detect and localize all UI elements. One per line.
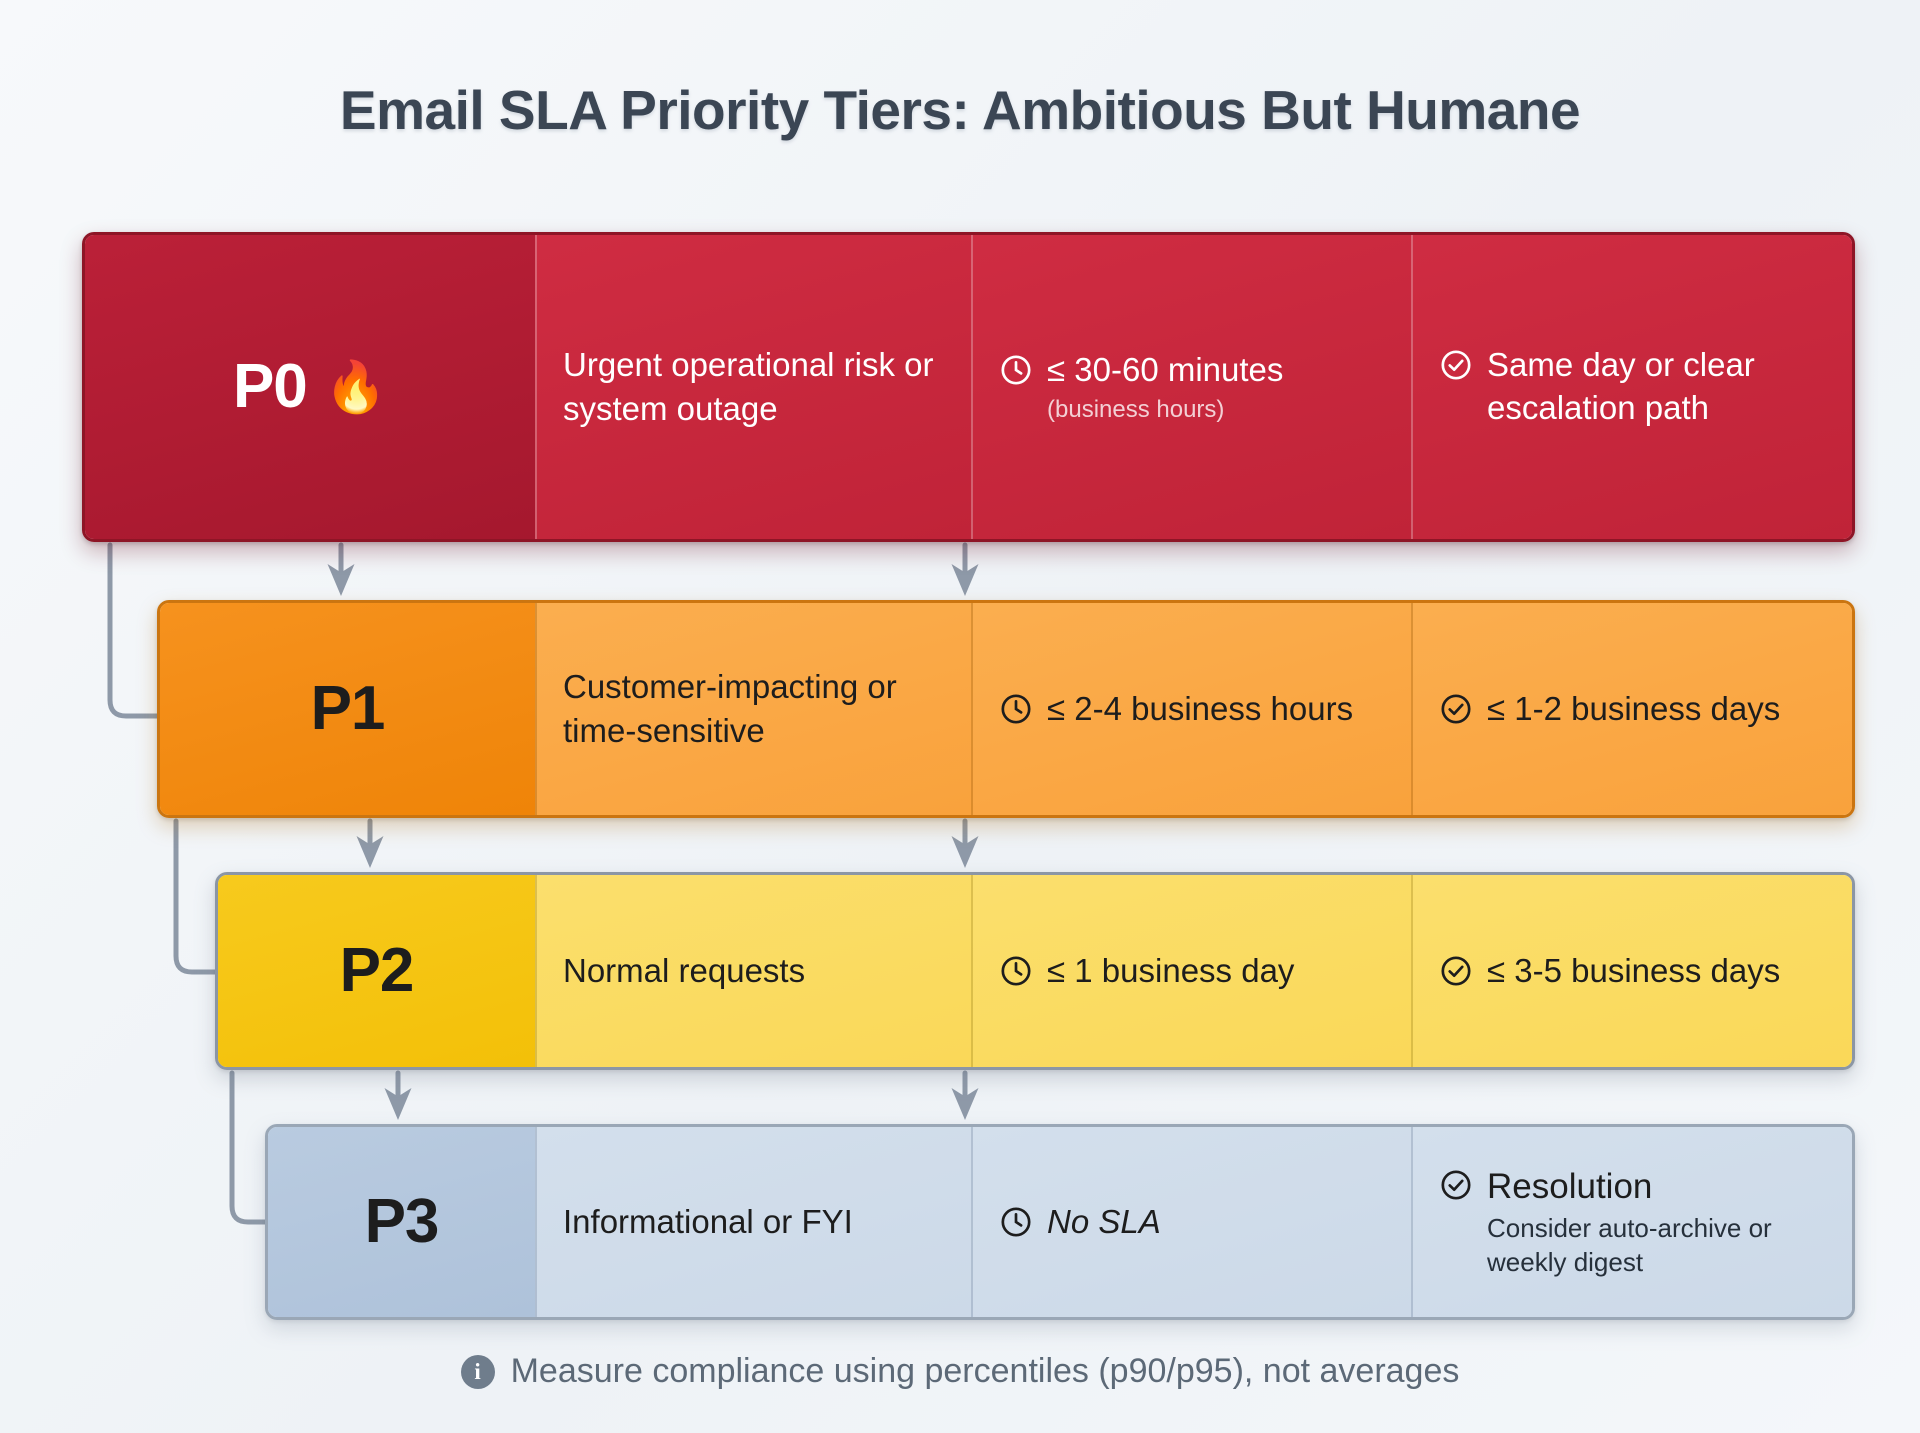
tier-row-p0[interactable]: P0 🔥 Urgent operational risk or system o…: [82, 232, 1855, 542]
check-circle-icon: [1439, 1168, 1473, 1207]
info-icon: i: [461, 1355, 495, 1389]
elbow-p0-p1: [110, 545, 157, 716]
tier-row-p2[interactable]: P2 Normal requests ≤ 1 business day: [215, 872, 1855, 1070]
tier-badge-label: P1: [311, 678, 385, 740]
response-main: ≤ 2-4 business hours: [1047, 688, 1353, 731]
response-metric-body: ≤ 2-4 business hours: [1047, 688, 1353, 731]
footer-note: i Measure compliance using percentiles (…: [0, 1352, 1920, 1391]
elbow-p2-p3: [232, 1073, 265, 1222]
tier-description-cell-p0: Urgent operational risk or system outage: [535, 235, 971, 539]
check-circle-icon: [1439, 954, 1473, 993]
tier-badge-p0: P0 🔥: [85, 235, 535, 539]
response-metric-body: ≤ 30-60 minutes (business hours): [1047, 349, 1283, 425]
tier-badge-label: P3: [365, 1191, 439, 1253]
tier-badge-label: P0: [233, 356, 307, 418]
resolution-metric: ≤ 3-5 business days: [1439, 950, 1780, 993]
response-metric: ≤ 2-4 business hours: [999, 688, 1353, 731]
response-main: ≤ 30-60 minutes: [1047, 349, 1283, 392]
resolution-metric: Resolution Consider auto-archive or week…: [1439, 1164, 1826, 1279]
clock-icon: [999, 1205, 1033, 1244]
tier-badge-label: P2: [340, 940, 414, 1002]
tier-response-cell-p2: ≤ 1 business day: [971, 875, 1411, 1067]
response-main: ≤ 1 business day: [1047, 950, 1294, 993]
tier-description-cell-p2: Normal requests: [535, 875, 971, 1067]
response-metric-body: ≤ 1 business day: [1047, 950, 1294, 993]
resolution-metric-body: Resolution Consider auto-archive or week…: [1487, 1164, 1826, 1279]
fire-icon: 🔥: [325, 362, 387, 412]
response-metric: ≤ 30-60 minutes (business hours): [999, 349, 1283, 425]
check-circle-icon: [1439, 692, 1473, 731]
tier-badge-p1: P1: [160, 603, 535, 815]
tier-response-cell-p1: ≤ 2-4 business hours: [971, 603, 1411, 815]
tier-description: Informational or FYI: [563, 1200, 853, 1244]
resolution-sub: Consider auto-archive or weekly digest: [1487, 1212, 1826, 1280]
resolution-metric: ≤ 1-2 business days: [1439, 688, 1780, 731]
elbow-p1-p2: [176, 821, 215, 972]
tier-resolution-cell-p3: Resolution Consider auto-archive or week…: [1411, 1127, 1852, 1317]
resolution-main: Same day or clear escalation path: [1487, 344, 1826, 430]
tier-response-cell-p0: ≤ 30-60 minutes (business hours): [971, 235, 1411, 539]
tier-description-cell-p3: Informational or FYI: [535, 1127, 971, 1317]
resolution-main: ≤ 1-2 business days: [1487, 688, 1780, 731]
response-metric-body: No SLA: [1047, 1201, 1161, 1244]
tier-resolution-cell-p2: ≤ 3-5 business days: [1411, 875, 1852, 1067]
infographic-page: Email SLA Priority Tiers: Ambitious But …: [0, 0, 1920, 1433]
tier-description-cell-p1: Customer-impacting or time-sensitive: [535, 603, 971, 815]
resolution-main: Resolution: [1487, 1164, 1826, 1210]
check-circle-icon: [1439, 348, 1473, 387]
page-title: Email SLA Priority Tiers: Ambitious But …: [0, 78, 1920, 142]
clock-icon: [999, 954, 1033, 993]
response-sub: (business hours): [1047, 394, 1283, 425]
clock-icon: [999, 353, 1033, 392]
resolution-metric: Same day or clear escalation path: [1439, 344, 1826, 430]
tier-badge-p2: P2: [218, 875, 535, 1067]
tier-resolution-cell-p0: Same day or clear escalation path: [1411, 235, 1852, 539]
tier-description: Urgent operational risk or system outage: [563, 343, 945, 430]
footer-note-text: Measure compliance using percentiles (p9…: [511, 1352, 1460, 1391]
tier-description: Customer-impacting or time-sensitive: [563, 665, 945, 752]
response-metric: ≤ 1 business day: [999, 950, 1294, 993]
resolution-main: ≤ 3-5 business days: [1487, 950, 1780, 993]
tier-row-p1[interactable]: P1 Customer-impacting or time-sensitive …: [157, 600, 1855, 818]
tier-badge-p3: P3: [268, 1127, 535, 1317]
tier-description: Normal requests: [563, 949, 805, 993]
resolution-metric-body: Same day or clear escalation path: [1487, 344, 1826, 430]
tier-resolution-cell-p1: ≤ 1-2 business days: [1411, 603, 1852, 815]
resolution-metric-body: ≤ 3-5 business days: [1487, 950, 1780, 993]
tier-response-cell-p3: No SLA: [971, 1127, 1411, 1317]
clock-icon: [999, 692, 1033, 731]
response-metric: No SLA: [999, 1201, 1161, 1244]
response-main: No SLA: [1047, 1201, 1161, 1244]
resolution-metric-body: ≤ 1-2 business days: [1487, 688, 1780, 731]
tier-row-p3[interactable]: P3 Informational or FYI No SLA: [265, 1124, 1855, 1320]
